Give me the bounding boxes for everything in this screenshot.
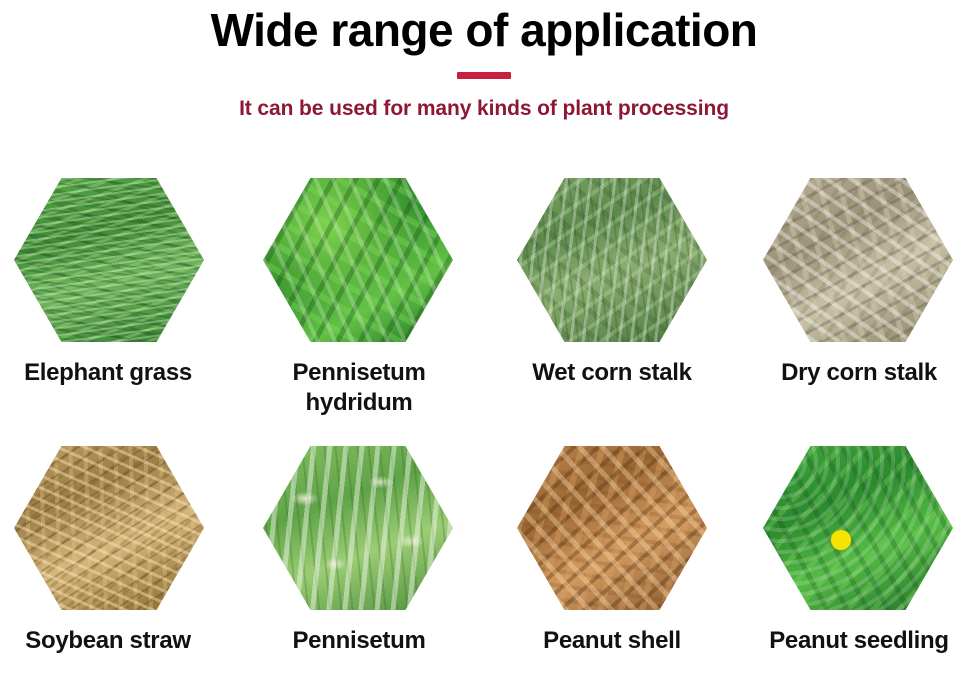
yellow-flower-icon: [831, 530, 851, 550]
gallery-row-1: Elephant grass Pennisetumhydridum Wet co…: [0, 178, 968, 428]
soybean-straw-texture: [14, 446, 204, 610]
gallery-item-label: Dry corn stalk: [740, 358, 968, 388]
gallery-item-label: Peanut seedling: [740, 626, 968, 656]
pennisetum-photo: [263, 446, 453, 610]
page-subtitle: It can be used for many kinds of plant p…: [0, 96, 968, 122]
gallery-row-2: Soybean straw Pennisetum Peanut shell Pe…: [0, 446, 968, 675]
gallery-item-wet-corn-stalk[interactable]: Wet corn stalk: [484, 178, 726, 428]
title-divider: [0, 58, 968, 92]
gallery-item-label: Peanut shell: [493, 626, 731, 656]
peanut-seedling-texture: [763, 446, 953, 610]
wet-corn-stalk-photo: [517, 178, 707, 342]
divider-bar: [457, 72, 511, 79]
page-header: Wide range of application It can be used…: [0, 0, 968, 122]
soybean-straw-photo: [14, 446, 204, 610]
gallery-item-label: Pennisetumhydridum: [240, 358, 478, 418]
elephant-grass-photo: [14, 178, 204, 342]
gallery-item-label: Pennisetum: [240, 626, 478, 656]
elephant-grass-texture: [14, 178, 204, 342]
gallery-item-label: Soybean straw: [0, 626, 227, 656]
wet-corn-stalk-texture: [517, 178, 707, 342]
pennisetum-hydridum-texture: [263, 178, 453, 342]
gallery-item-soybean-straw[interactable]: Soybean straw: [0, 446, 242, 675]
peanut-shell-photo: [517, 446, 707, 610]
gallery-item-peanut-shell[interactable]: Peanut shell: [484, 446, 726, 675]
gallery-item-pennisetum[interactable]: Pennisetum: [242, 446, 484, 675]
gallery-item-pennisetum-hydridum[interactable]: Pennisetumhydridum: [242, 178, 484, 428]
application-gallery: Elephant grass Pennisetumhydridum Wet co…: [0, 178, 968, 675]
gallery-item-dry-corn-stalk[interactable]: Dry corn stalk: [726, 178, 968, 428]
gallery-item-label: Elephant grass: [0, 358, 227, 388]
page-title: Wide range of application: [0, 2, 968, 58]
dry-corn-stalk-photo: [763, 178, 953, 342]
pennisetum-hydridum-photo: [263, 178, 453, 342]
dry-corn-stalk-texture: [763, 178, 953, 342]
pennisetum-texture: [263, 446, 453, 610]
peanut-seedling-photo: [763, 446, 953, 610]
gallery-item-peanut-seedling[interactable]: Peanut seedling: [726, 446, 968, 675]
gallery-item-elephant-grass[interactable]: Elephant grass: [0, 178, 242, 428]
gallery-item-label: Wet corn stalk: [493, 358, 731, 388]
peanut-shell-texture: [517, 446, 707, 610]
